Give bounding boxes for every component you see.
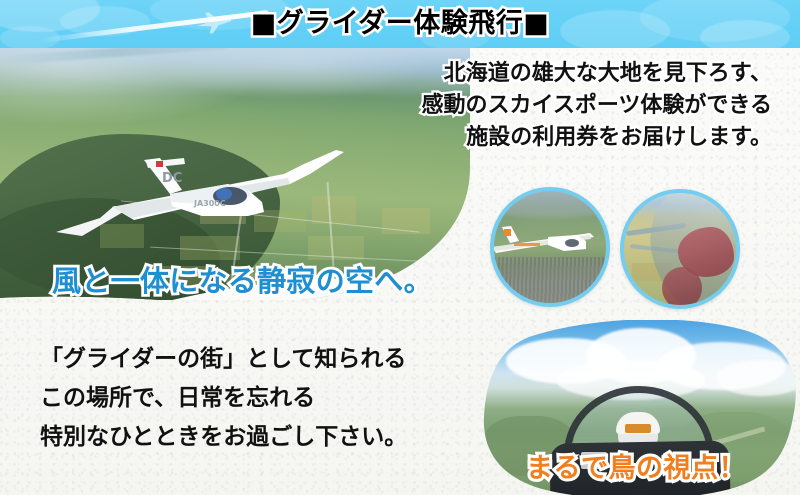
body-line: 「グライダーの街」として知られる bbox=[40, 340, 480, 379]
lead-line: 施設の利用券をお届けします。 bbox=[342, 122, 772, 154]
photo-cap-logo bbox=[625, 424, 651, 433]
glider-illustration: DC JA300C bbox=[52, 144, 352, 264]
glider-illustration bbox=[490, 217, 602, 269]
page-title: ■グライダー体験飛行■ bbox=[0, 5, 800, 43]
photo-mountain-haze bbox=[494, 191, 606, 217]
glider-over-town-photo bbox=[490, 187, 610, 307]
body-copy: 「グライダーの街」として知られる この場所で、日常を忘れる 特別なひとときをお過… bbox=[40, 340, 480, 457]
body-line: この場所で、日常を忘れる bbox=[40, 379, 480, 418]
cloud-icon bbox=[716, 360, 796, 396]
status-badge: まるで鳥の視点！ bbox=[476, 452, 796, 486]
lead-copy: 北海道の雄大な大地を見下ろす、 感動のスカイスポーツ体験ができる 施設の利用券を… bbox=[342, 58, 772, 154]
poster-root: DC JA300C bbox=[0, 0, 800, 495]
blue-tagline: 風と一体になる静寂の空へ。 bbox=[52, 262, 433, 300]
svg-text:JA300C: JA300C bbox=[193, 199, 226, 208]
svg-text:DC: DC bbox=[162, 171, 182, 186]
lead-line: 感動のスカイスポーツ体験ができる bbox=[342, 90, 772, 122]
canopy-view-photo bbox=[620, 189, 740, 309]
body-line: 特別なひとときをお過ごし下さい。 bbox=[40, 418, 480, 457]
lead-line: 北海道の雄大な大地を見下ろす、 bbox=[342, 58, 772, 90]
photo-wing-red bbox=[662, 267, 702, 309]
